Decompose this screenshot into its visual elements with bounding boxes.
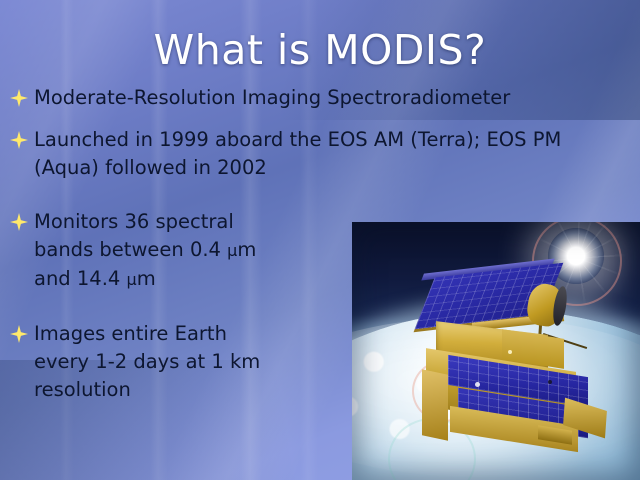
- four-point-star-icon: [10, 87, 28, 105]
- slide-canvas: What is MODIS? Moderate-Resolution Imagi…: [0, 0, 640, 480]
- four-point-star-icon: [10, 129, 28, 147]
- bullet-item-4: Images entire Earth every 1-2 days at 1 …: [10, 320, 334, 404]
- satellite-side-module: [422, 369, 448, 441]
- bullet-line: and 14.4 μm: [34, 267, 156, 290]
- four-point-star-icon: [10, 323, 28, 341]
- bullet-item-2: Launched in 1999 aboard the EOS AM (Terr…: [10, 126, 630, 182]
- slide-title: What is MODIS?: [0, 26, 640, 74]
- bullet-line: resolution: [34, 378, 131, 401]
- bullet-item-3: Monitors 36 spectral bands between 0.4 μ…: [10, 208, 334, 294]
- specular-highlight: [508, 350, 512, 354]
- bullet-line: Monitors 36 spectral: [34, 210, 234, 233]
- bullet-line: Launched in 1999 aboard the EOS AM (Terr…: [34, 128, 561, 151]
- bullet-line: Images entire Earth: [34, 322, 227, 345]
- terra-satellite: [352, 222, 640, 480]
- four-point-star-icon: [10, 211, 28, 229]
- bullet-item-1: Moderate-Resolution Imaging Spectroradio…: [10, 84, 630, 112]
- sensor-port: [548, 380, 552, 384]
- satellite-image: [352, 222, 640, 480]
- bullet-line: bands between 0.4 μm: [34, 238, 256, 261]
- bullet-line: Moderate-Resolution Imaging Spectroradio…: [34, 86, 510, 109]
- specular-highlight: [475, 382, 480, 387]
- bullet-line: every 1-2 days at 1 km: [34, 350, 260, 373]
- bullet-line: (Aqua) followed in 2002: [34, 156, 267, 179]
